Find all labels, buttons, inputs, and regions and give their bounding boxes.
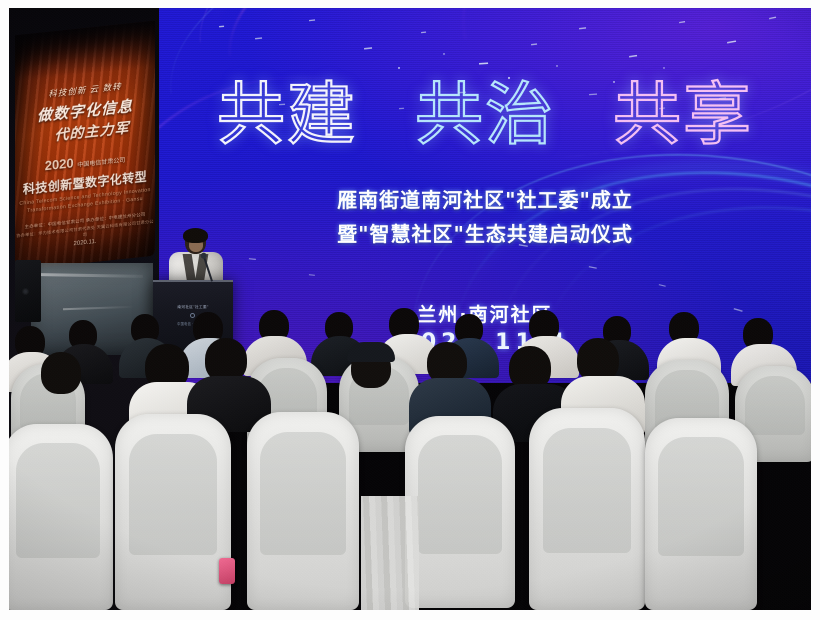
light-streak-glow-top [203,8,811,185]
presenter-hair [183,228,208,243]
cap-icon [347,342,395,362]
list-item [645,418,757,610]
screen-subtitle: 雁南街道南河社区"社工委"成立 暨"智慧社区"生态共建启动仪式 [159,184,811,247]
pink-phone [219,558,235,584]
screen-headline: 共建 共治 共享 [159,82,811,150]
list-item [9,424,113,610]
light-streak-magenta-1 [432,8,811,187]
red-stage-banner [15,21,155,271]
headline-word-gongzhi: 共治 [415,82,555,150]
light-streak-violet-1 [188,8,811,188]
headline-word-gongjian: 共建 [217,82,357,150]
list-item [115,414,231,610]
light-streak-pink-1 [219,8,811,206]
subtitle-line-2: 暨"智慧社区"生态共建启动仪式 [159,218,811,247]
aisle-floor [361,496,419,610]
event-photograph: 共建 共治 共享 雁南街道南河社区"社工委"成立 暨"智慧社区"生态共建启动仪式… [9,8,811,610]
headline-word-gongxiang: 共享 [613,82,753,150]
photo-frame: 共建 共治 共享 雁南街道南河社区"社工委"成立 暨"智慧社区"生态共建启动仪式… [0,0,820,620]
list-item [405,416,515,608]
subtitle-line-1: 雁南街道南河社区"社工委"成立 [159,184,811,213]
light-streak-blue-1 [159,8,811,259]
list-item [247,412,359,610]
audience: 共建 共治 共享 雁南街道南河社区 [9,308,811,610]
list-item [529,408,645,610]
